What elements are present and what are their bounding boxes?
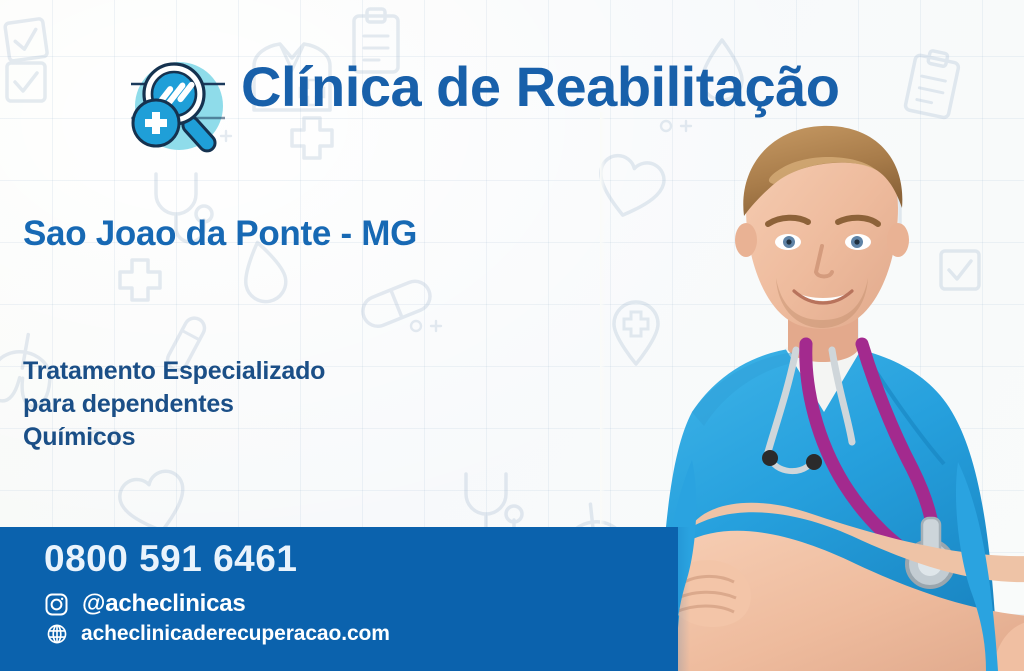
website-contact[interactable]: acheclinicaderecuperacao.com xyxy=(46,622,390,646)
description-line-1: Tratamento Especializado xyxy=(23,355,325,388)
description-line-2: para dependentes xyxy=(23,388,325,421)
magnifier-plus-logo xyxy=(121,50,233,162)
clinic-banner: Clínica de Reabilitação Sao Joao da Pont… xyxy=(0,0,1024,671)
description-line-3: Químicos xyxy=(23,421,325,454)
page-title: Clínica de Reabilitação xyxy=(241,58,839,116)
instagram-icon xyxy=(44,592,69,617)
service-description: Tratamento Especializado para dependente… xyxy=(23,355,325,454)
footer-fade-edge xyxy=(620,527,690,671)
instagram-contact[interactable]: @acheclinicas xyxy=(44,590,246,618)
phone-number[interactable]: 0800 591 6461 xyxy=(44,538,297,580)
instagram-handle: @acheclinicas xyxy=(82,590,246,618)
globe-icon xyxy=(46,623,68,645)
website-url: acheclinicaderecuperacao.com xyxy=(81,622,390,646)
city-state-label: Sao Joao da Ponte - MG xyxy=(23,214,417,254)
